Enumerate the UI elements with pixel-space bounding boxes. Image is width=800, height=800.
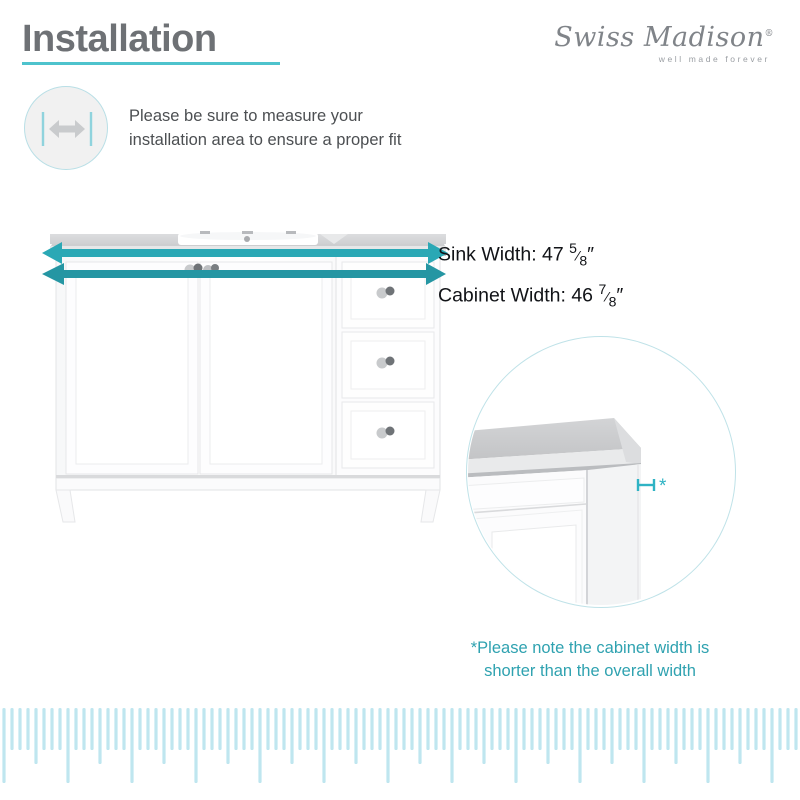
detail-inset-circle-border: [466, 336, 736, 608]
ruler-minor-tick: [650, 708, 653, 750]
ruler-inch-tick: [258, 708, 261, 783]
ruler-minor-tick: [402, 708, 405, 750]
sink-width-denominator: 8: [579, 252, 587, 268]
ruler-minor-tick: [314, 708, 317, 750]
horizontal-resize-arrow-icon: [24, 86, 108, 170]
measure-instruction-line-1: Please be sure to measure your: [129, 104, 449, 128]
ruler-half-tick: [98, 708, 101, 764]
ruler-minor-tick: [10, 708, 13, 750]
ruler-minor-tick: [794, 708, 797, 750]
ruler-minor-tick: [154, 708, 157, 750]
ruler-minor-tick: [26, 708, 29, 750]
ruler-inch-tick: [322, 708, 325, 783]
ruler-half-tick: [482, 708, 485, 764]
ruler-half-tick: [162, 708, 165, 764]
ruler-minor-tick: [242, 708, 245, 750]
footnote-line-2: shorter than the overall width: [425, 660, 755, 683]
ruler-inch-tick: [386, 708, 389, 783]
page-title: Installation: [22, 18, 217, 61]
ruler-minor-tick: [778, 708, 781, 750]
ruler-minor-tick: [530, 708, 533, 750]
ruler-inch-tick: [66, 708, 69, 783]
ruler-minor-tick: [42, 708, 45, 750]
ruler-minor-tick: [250, 708, 253, 750]
ruler-minor-tick: [586, 708, 589, 750]
ruler-minor-tick: [554, 708, 557, 750]
ruler-minor-tick: [506, 708, 509, 750]
ruler-minor-tick: [234, 708, 237, 750]
ruler-minor-tick: [754, 708, 757, 750]
ruler-inch-tick: [514, 708, 517, 783]
ruler-minor-tick: [18, 708, 21, 750]
sink-width-arrow: [42, 242, 448, 264]
ruler-minor-tick: [58, 708, 61, 750]
ruler-minor-tick: [394, 708, 397, 750]
ruler-half-tick: [34, 708, 37, 764]
ruler-half-tick: [418, 708, 421, 764]
ruler-minor-tick: [122, 708, 125, 750]
ruler-minor-tick: [178, 708, 181, 750]
ruler-minor-tick: [690, 708, 693, 750]
ruler-minor-tick: [434, 708, 437, 750]
ruler-half-tick: [674, 708, 677, 764]
ruler-minor-tick: [346, 708, 349, 750]
brand-name: Swiss Madison®: [554, 22, 774, 53]
cabinet-width-unit: ″: [616, 285, 623, 307]
ruler-minor-tick: [138, 708, 141, 750]
ruler-minor-tick: [186, 708, 189, 750]
ruler-inch-tick: [642, 708, 645, 783]
ruler-minor-tick: [306, 708, 309, 750]
brand-tagline: well made forever: [554, 54, 770, 64]
ruler-minor-tick: [146, 708, 149, 750]
ruler-inch-tick: [2, 708, 5, 783]
ruler-minor-tick: [378, 708, 381, 750]
ruler-minor-tick: [338, 708, 341, 750]
ruler-inch-tick: [770, 708, 773, 783]
ruler-minor-tick: [562, 708, 565, 750]
ruler-minor-tick: [114, 708, 117, 750]
ruler-minor-tick: [746, 708, 749, 750]
ruler-minor-tick: [74, 708, 77, 750]
sink-width-numerator: 5: [569, 240, 577, 256]
cabinet-width-footnote: *Please note the cabinet width is shorte…: [425, 637, 755, 683]
ruler-minor-tick: [106, 708, 109, 750]
ruler-minor-tick: [498, 708, 501, 750]
ruler-minor-tick: [426, 708, 429, 750]
ruler-minor-tick: [682, 708, 685, 750]
dimension-labels: Sink Width: 47 5⁄8″ Cabinet Width: 46 7⁄…: [438, 234, 623, 317]
ruler-minor-tick: [786, 708, 789, 750]
ruler-minor-tick: [698, 708, 701, 750]
ruler-minor-tick: [266, 708, 269, 750]
ruler-minor-tick: [466, 708, 469, 750]
ruler-minor-tick: [722, 708, 725, 750]
ruler-half-tick: [226, 708, 229, 764]
ruler-minor-tick: [362, 708, 365, 750]
ruler-minor-tick: [522, 708, 525, 750]
ruler-minor-tick: [218, 708, 221, 750]
ruler-minor-tick: [594, 708, 597, 750]
ruler-minor-tick: [442, 708, 445, 750]
ruler-half-tick: [738, 708, 741, 764]
corner-detail-inset: *: [466, 336, 736, 608]
ruler-minor-tick: [274, 708, 277, 750]
cabinet-width-label: Cabinet Width: 46 7⁄8″: [438, 275, 623, 316]
ruler-minor-tick: [210, 708, 213, 750]
ruler-half-tick: [610, 708, 613, 764]
ruler-minor-tick: [538, 708, 541, 750]
ruler-minor-tick: [570, 708, 573, 750]
ruler-minor-tick: [762, 708, 765, 750]
installation-guide-page: Installation Swiss Madison® well made fo…: [0, 0, 800, 800]
ruler-half-tick: [354, 708, 357, 764]
footnote-line-1: *Please note the cabinet width is: [425, 637, 755, 660]
ruler-minor-tick: [82, 708, 85, 750]
ruler-half-tick: [546, 708, 549, 764]
ruler-minor-tick: [714, 708, 717, 750]
sink-width-label: Sink Width: 47 5⁄8″: [438, 234, 623, 275]
ruler-minor-tick: [634, 708, 637, 750]
title-underline-rule: [22, 62, 280, 65]
dimension-arrows-overlay: [40, 238, 450, 288]
registered-trademark-icon: ®: [765, 29, 775, 39]
ruler-minor-tick: [602, 708, 605, 750]
ruler-half-tick: [290, 708, 293, 764]
ruler-inch-tick: [450, 708, 453, 783]
ruler-minor-tick: [626, 708, 629, 750]
ruler-minor-tick: [658, 708, 661, 750]
brand-name-text: Swiss Madison: [554, 22, 764, 53]
ruler-minor-tick: [666, 708, 669, 750]
cabinet-width-arrow: [42, 263, 446, 285]
sink-width-whole: 47: [542, 244, 564, 266]
measure-instruction-line-2: installation area to ensure a proper fit: [129, 128, 449, 152]
ruler-minor-tick: [50, 708, 53, 750]
cabinet-width-caption: Cabinet Width:: [438, 285, 566, 307]
ruler-minor-tick: [474, 708, 477, 750]
ruler-inch-tick: [194, 708, 197, 783]
ruler-minor-tick: [90, 708, 93, 750]
brand-logo: Swiss Madison® well made forever: [554, 22, 774, 64]
ruler-minor-tick: [298, 708, 301, 750]
ruler-inch-tick: [578, 708, 581, 783]
ruler-minor-tick: [410, 708, 413, 750]
ruler-minor-tick: [170, 708, 173, 750]
decorative-ruler: [0, 706, 800, 800]
ruler-minor-tick: [330, 708, 333, 750]
ruler-inch-tick: [706, 708, 709, 783]
ruler-minor-tick: [490, 708, 493, 750]
ruler-minor-tick: [202, 708, 205, 750]
ruler-minor-tick: [458, 708, 461, 750]
cabinet-width-whole: 46: [571, 285, 593, 307]
ruler-minor-tick: [618, 708, 621, 750]
sink-width-caption: Sink Width:: [438, 244, 537, 266]
ruler-minor-tick: [730, 708, 733, 750]
ruler-inch-tick: [130, 708, 133, 783]
ruler-minor-tick: [282, 708, 285, 750]
ruler-minor-tick: [370, 708, 373, 750]
sink-width-unit: ″: [587, 244, 594, 266]
measure-instruction-text: Please be sure to measure your installat…: [129, 104, 449, 152]
